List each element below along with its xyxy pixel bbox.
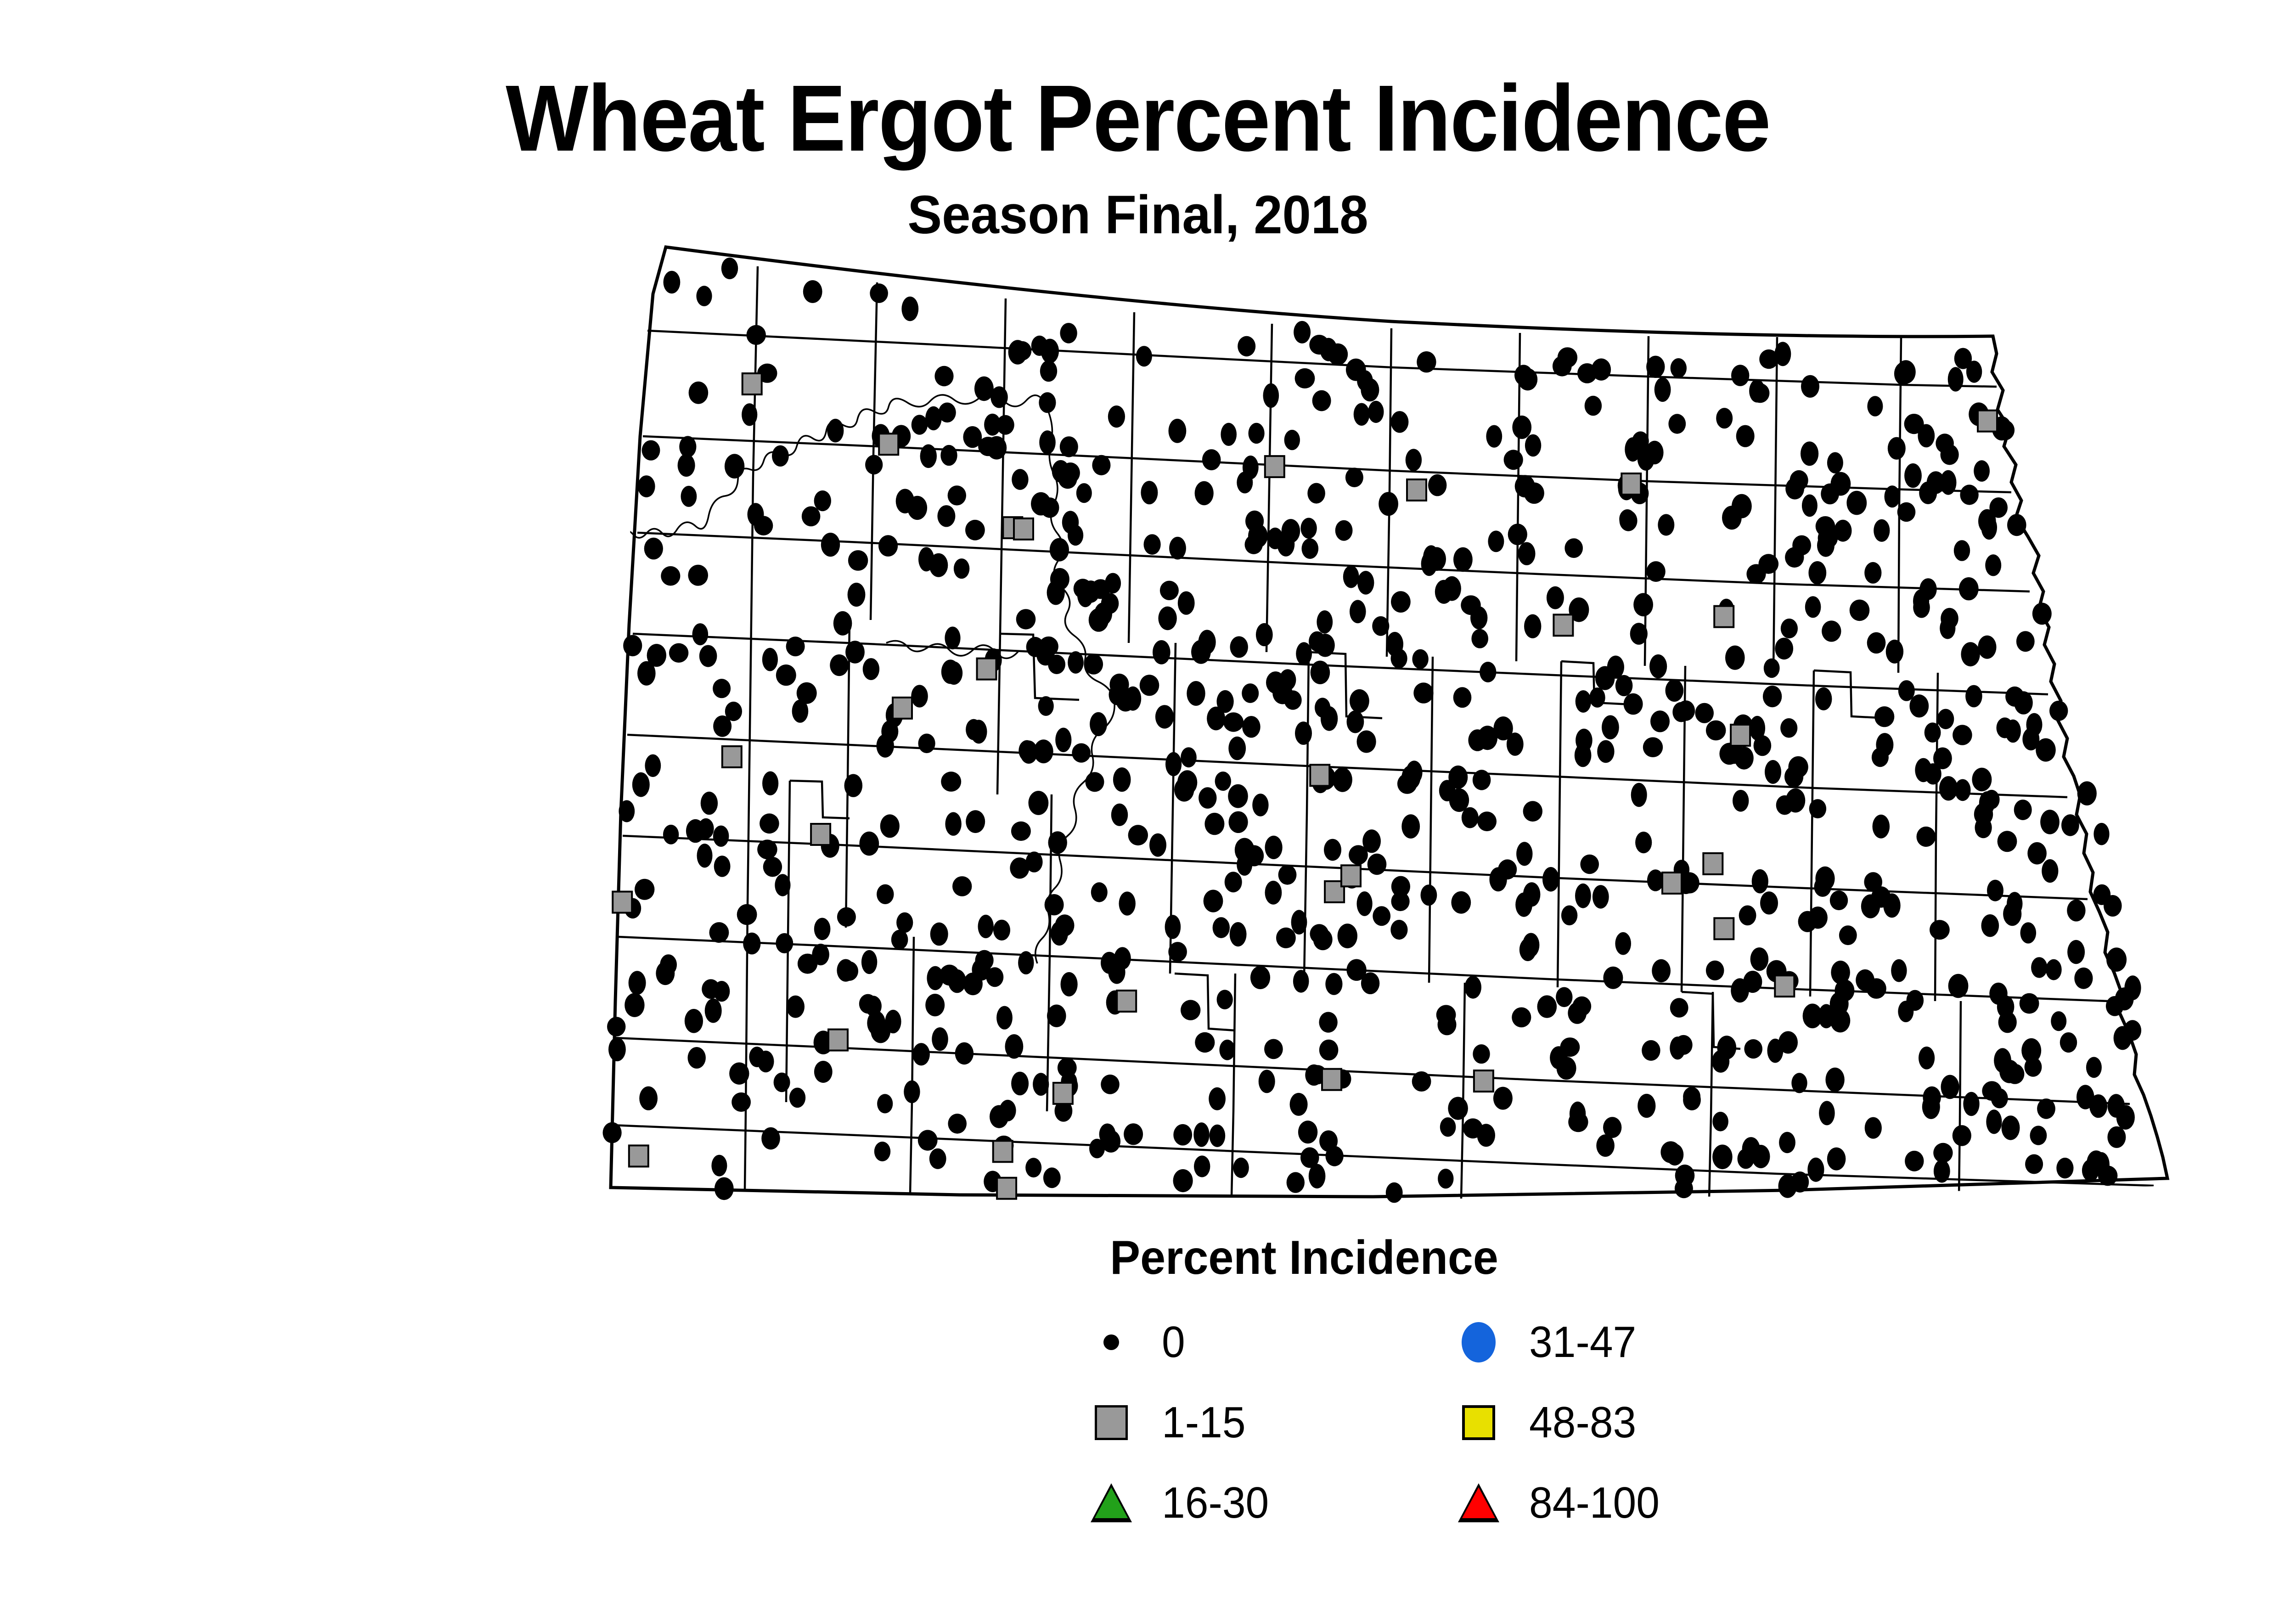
map-page: Wheat Ergot Percent Incidence Season Fin… (0, 0, 2296, 1610)
blue-circle-icon (1460, 1324, 1497, 1361)
map-svg (592, 239, 2190, 1208)
yellow-square-icon (1460, 1404, 1497, 1441)
green-triangle-icon (1093, 1485, 1130, 1521)
legend-item-label: 84-100 (1529, 1481, 1660, 1525)
legend-item-label: 1-15 (1162, 1401, 1246, 1445)
red-triangle-icon (1460, 1485, 1497, 1521)
legend-item-label: 31-47 (1529, 1320, 1636, 1364)
legend-item-label: 48-83 (1529, 1401, 1636, 1445)
gray-square-icon (1093, 1404, 1130, 1441)
legend-item-label: 16-30 (1162, 1481, 1269, 1525)
page-subtitle: Season Final, 2018 (0, 184, 2296, 246)
page-title: Wheat Ergot Percent Incidence (0, 64, 2296, 173)
legend: Percent Incidence 0 1-15 16-30 (1070, 1231, 1851, 1575)
legend-title: Percent Incidence (1082, 1231, 1527, 1285)
legend-item-label: 0 (1162, 1320, 1185, 1364)
north-dakota-map (592, 239, 2190, 1208)
black-dot-icon (1093, 1324, 1130, 1361)
